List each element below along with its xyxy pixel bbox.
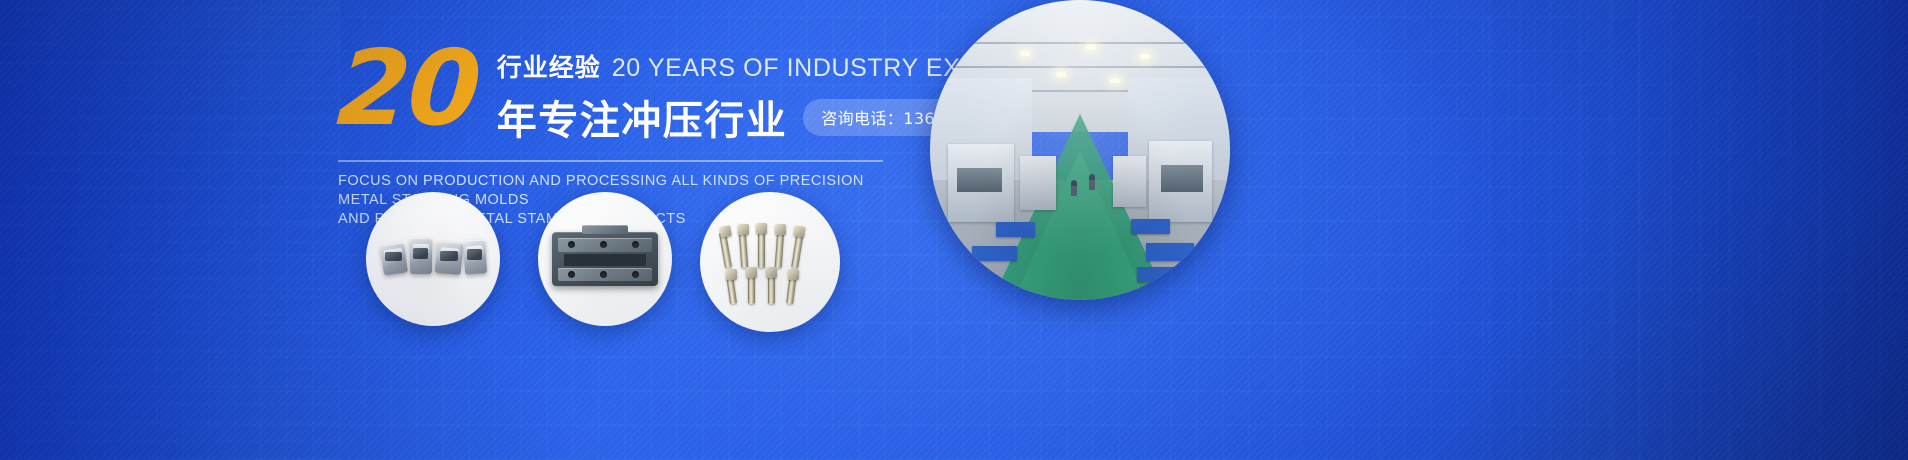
product-circle-stamped-pins xyxy=(700,192,840,332)
headline-divider xyxy=(338,160,883,162)
product-circle-stamping-die xyxy=(538,192,672,326)
background-left-texture xyxy=(0,0,340,460)
factory-photo-circle xyxy=(930,0,1230,300)
years-number: 20 xyxy=(335,46,482,130)
headline-cn-large: 年专注冲压行业 xyxy=(497,88,788,146)
promo-banner: 20 行业经验 20 YEARS OF INDUSTRY EXPERIENCE … xyxy=(0,0,1908,460)
background-right-texture xyxy=(1488,0,1908,460)
headline-cn-small: 行业经验 xyxy=(497,48,601,84)
product-circle-connectors xyxy=(366,192,500,326)
headline-row: 20 行业经验 20 YEARS OF INDUSTRY EXPERIENCE … xyxy=(338,38,898,146)
